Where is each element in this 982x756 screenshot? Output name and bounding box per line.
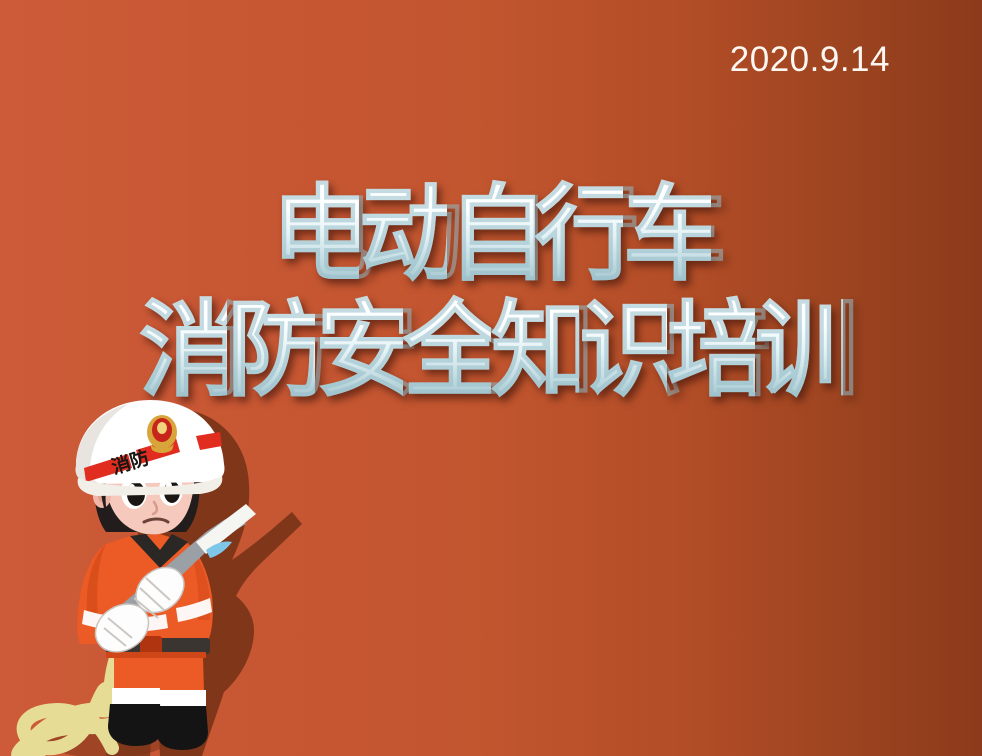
fire-hose (19, 642, 122, 756)
title-char: 电 (271, 178, 359, 290)
title-char: 自 (447, 178, 535, 290)
title-char: 防 (227, 294, 315, 406)
title-char: 车 (623, 178, 711, 290)
title-char: 安 (315, 294, 403, 406)
title-char: 消 (139, 294, 227, 406)
slide-title: 电动自行车 消防安全知识培训 (0, 178, 982, 407)
presentation-slide: 2020.9.14 电动自行车 消防安全知识培训 (0, 0, 982, 756)
title-char: 知 (491, 294, 579, 406)
slide-date: 2020.9.14 (730, 42, 890, 77)
title-char: 全 (403, 294, 491, 406)
title-char: 训 (755, 294, 843, 406)
title-char: 识 (579, 294, 667, 406)
title-line-1: 电动自行车 (0, 178, 982, 290)
title-char: 动 (359, 178, 447, 290)
title-char: 培 (667, 294, 755, 406)
title-line-2: 消防安全知识培训 (0, 294, 982, 406)
firefighter-illustration: 消防 (10, 392, 310, 756)
title-char: 行 (535, 178, 623, 290)
